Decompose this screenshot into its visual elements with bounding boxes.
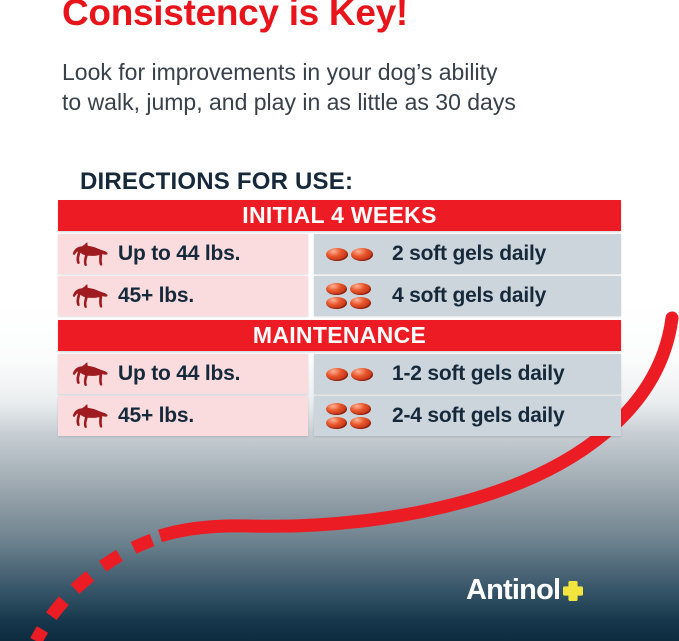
table-band-initial: INITIAL 4 WEEKS — [58, 200, 621, 231]
table-row: 45+ lbs. 2-4 soft gels daily — [58, 396, 621, 436]
table-row: 45+ lbs. 4 soft gels daily — [58, 276, 621, 316]
dose-label: 2-4 soft gels daily — [392, 404, 564, 428]
dog-silhouette-icon — [72, 361, 108, 387]
weight-label: 45+ lbs. — [118, 284, 194, 308]
softgel-capsule-icon — [350, 283, 371, 295]
dose-cell: 4 soft gels daily — [314, 276, 621, 316]
brand-name: Antinol — [466, 576, 560, 605]
table-row: Up to 44 lbs. 1-2 soft gels daily — [58, 354, 621, 394]
dosage-table: INITIAL 4 WEEKS Up to 44 lbs. 2 soft gel… — [58, 200, 621, 436]
softgel-capsule-icon — [350, 403, 371, 415]
softgel-capsule-icon — [326, 368, 348, 381]
softgel-capsule-icon — [326, 368, 378, 381]
weight-label: Up to 44 lbs. — [118, 362, 240, 386]
weight-cell: Up to 44 lbs. — [58, 354, 308, 394]
weight-label: 45+ lbs. — [118, 404, 194, 428]
softgel-capsule-icon — [326, 248, 348, 261]
softgel-capsule-icon — [326, 283, 378, 309]
table-row: Up to 44 lbs. 2 soft gels daily — [58, 234, 621, 274]
subheadline-line-1: Look for improvements in your dog’s abil… — [62, 57, 632, 87]
dog-silhouette-icon — [72, 283, 108, 309]
dose-label: 4 soft gels daily — [392, 284, 546, 308]
dose-label: 2 soft gels daily — [392, 242, 546, 266]
dose-label: 1-2 soft gels daily — [392, 362, 564, 386]
directions-heading: DIRECTIONS FOR USE: — [80, 168, 353, 196]
softgel-capsule-icon — [326, 283, 347, 295]
dog-silhouette-icon — [72, 403, 108, 429]
promo-poster: Consistency is Key! Look for improvement… — [0, 0, 679, 641]
page-title: Consistency is Key! — [62, 0, 662, 33]
dog-silhouette-icon — [72, 241, 108, 267]
softgel-capsule-icon — [351, 368, 373, 381]
weight-cell: 45+ lbs. — [58, 276, 308, 316]
weight-cell: Up to 44 lbs. — [58, 234, 308, 274]
dose-cell: 2-4 soft gels daily — [314, 396, 621, 436]
weight-label: Up to 44 lbs. — [118, 242, 240, 266]
softgel-capsule-icon — [326, 248, 378, 261]
weight-cell: 45+ lbs. — [58, 396, 308, 436]
plus-cross-icon — [561, 579, 585, 603]
brand-logo: Antinol — [466, 576, 585, 605]
softgel-capsule-icon — [326, 403, 378, 429]
softgel-capsule-icon — [326, 417, 347, 429]
softgel-capsule-icon — [326, 297, 347, 309]
table-band-maintenance: MAINTENANCE — [58, 320, 621, 351]
dose-cell: 2 soft gels daily — [314, 234, 621, 274]
softgel-capsule-icon — [350, 417, 371, 429]
softgel-capsule-icon — [326, 403, 347, 415]
softgel-capsule-icon — [351, 248, 373, 261]
subheadline-line-2: to walk, jump, and play in as little as … — [62, 87, 632, 117]
softgel-capsule-icon — [350, 297, 371, 309]
dose-cell: 1-2 soft gels daily — [314, 354, 621, 394]
subheadline: Look for improvements in your dog’s abil… — [62, 57, 632, 118]
